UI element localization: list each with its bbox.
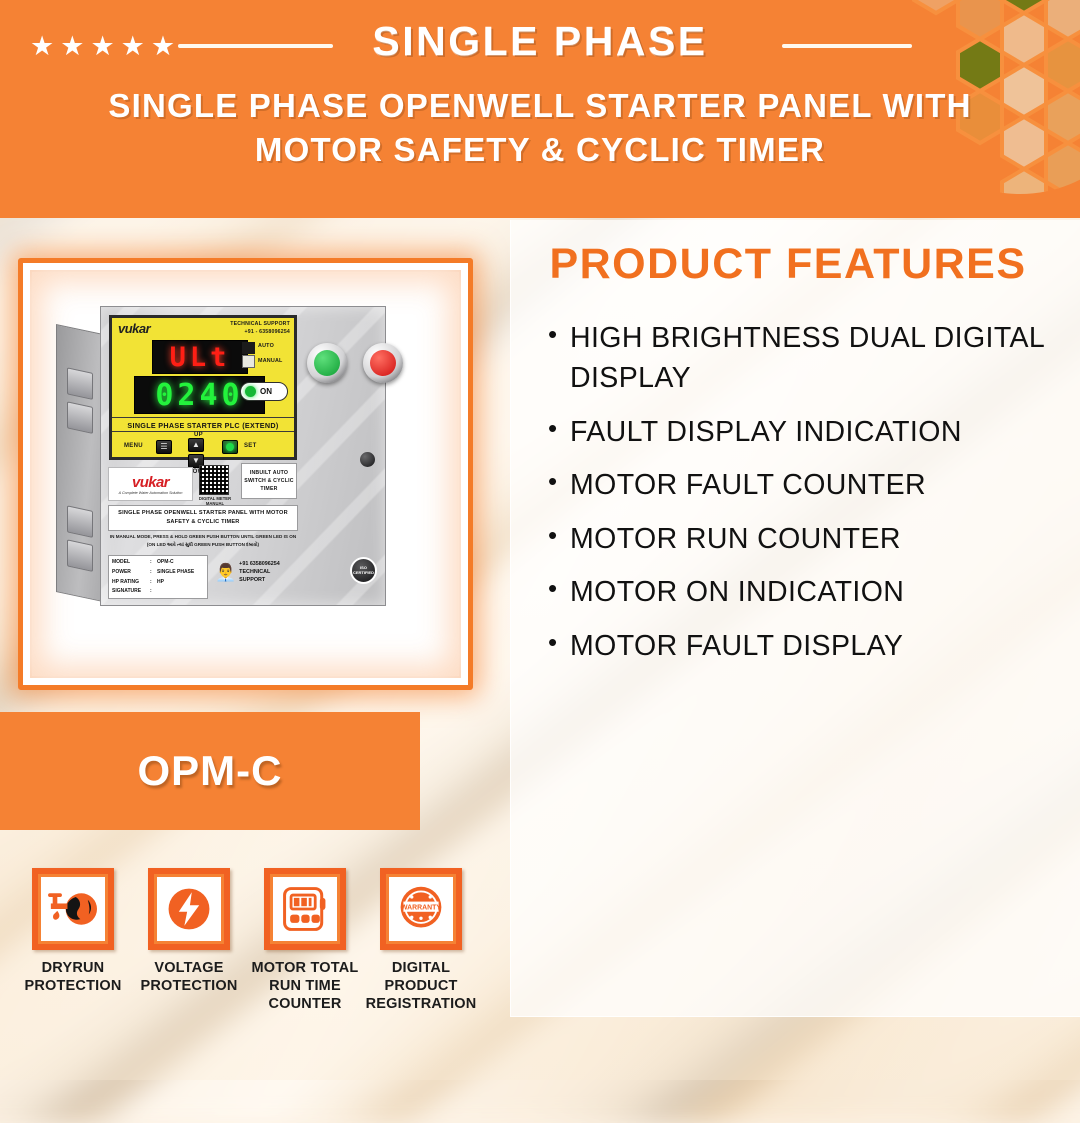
feature-item: FAULT DISPLAY INDICATION [548, 412, 1068, 452]
spec-key: MODEL [112, 558, 148, 568]
feature-item: MOTOR ON INDICATION [548, 572, 1068, 612]
set-button[interactable] [222, 440, 238, 454]
spec-row: HP RATING:HP [112, 578, 204, 588]
start-push-button[interactable] [307, 343, 347, 383]
product-image-frame: vukar TECHNICAL SUPPORT +91 - 6358096254… [18, 258, 473, 690]
badge-runtime-counter: MOTOR TOTAL RUN TIME COUNTER [250, 868, 360, 1048]
auto-switch-indicator [242, 342, 255, 354]
spec-key: HP RATING [112, 578, 148, 588]
plc-support-line2: +91 - 6358096254 [230, 329, 290, 337]
support-contact-text: +91 6358096254 TECHNICAL SUPPORT [239, 560, 293, 584]
specification-sticker: MODEL:OPM-C POWER:SINGLE PHASE HP RATING… [108, 555, 208, 599]
badge-caption: DRYRUN PROTECTION [18, 959, 128, 995]
certification-seal-icon: ISO CERTIFIED [350, 557, 377, 584]
support-label: TECHNICAL SUPPORT [239, 569, 270, 583]
badge-frame [148, 868, 230, 950]
badge-product-registration: WARRANTY DIGITAL PRODUCT REGISTRATION [366, 868, 476, 1048]
brand-sticker: vukar A Complete Water Automation Soluti… [108, 467, 193, 501]
menu-button[interactable]: ☰ [156, 440, 172, 454]
feature-item: MOTOR RUN COUNTER [548, 519, 1068, 559]
feature-badges-row: DRYRUN PROTECTION VOLTAGE PROTECTION [18, 868, 498, 1048]
plc-keypad: MENU ☰ UP ▲ ▼ DOWN SET [112, 434, 294, 463]
support-agent-icon: 👨‍💼 [215, 564, 236, 581]
plc-faceplate: vukar TECHNICAL SUPPORT +91 - 6358096254… [109, 315, 297, 460]
fault-code-display: ULt [152, 340, 248, 374]
badge-caption: VOLTAGE PROTECTION [134, 959, 244, 995]
up-button[interactable]: ▲ [188, 438, 204, 452]
door-latch-knob[interactable] [360, 452, 375, 467]
header-banner: ★ ★ ★ ★ ★ SINGLE PHASE SINGLE PHASE OPEN… [0, 0, 1080, 218]
feature-item: MOTOR FAULT COUNTER [548, 465, 1068, 505]
spec-value: HP [157, 578, 164, 588]
svg-text:WARRANTY: WARRANTY [401, 904, 441, 911]
spec-row: SIGNATURE: [112, 587, 204, 597]
badge-frame [32, 868, 114, 950]
tap-globe-icon [38, 874, 108, 944]
on-led-icon [245, 386, 256, 397]
badge-frame: WARRANTY [380, 868, 462, 950]
auto-manual-selector[interactable]: AUTO MANUAL [242, 342, 286, 372]
spec-value: SINGLE PHASE [157, 568, 194, 578]
model-name-band: OPM-C [0, 712, 420, 830]
hinge-icon [67, 539, 93, 572]
inbuilt-feature-sticker: INBUILT AUTO SWITCH & CYCLIC TIMER [241, 463, 297, 499]
support-contact-badge: 👨‍💼 +91 6358096254 TECHNICAL SUPPORT [215, 559, 293, 585]
spec-row: MODEL:OPM-C [112, 558, 204, 568]
on-label: ON [260, 387, 272, 396]
digital-meter-icon [270, 874, 340, 944]
brand-tagline: A Complete Water Automation Solution [119, 491, 183, 495]
badge-dryrun-protection: DRYRUN PROTECTION [18, 868, 128, 1048]
menu-key-label: MENU [124, 443, 143, 449]
features-list: HIGH BRIGHTNESS DUAL DIGITAL DISPLAY FAU… [548, 318, 1068, 679]
enclosure-front-face: vukar TECHNICAL SUPPORT +91 - 6358096254… [100, 306, 386, 606]
product-image: vukar TECHNICAL SUPPORT +91 - 6358096254… [32, 272, 459, 676]
red-lamp-icon [370, 350, 396, 376]
manual-label: MANUAL [258, 358, 283, 364]
feature-item: MOTOR FAULT DISPLAY [548, 626, 1068, 666]
warranty-seal-icon: WARRANTY [386, 874, 456, 944]
manual-switch-indicator [242, 355, 255, 368]
spec-row: POWER:SINGLE PHASE [112, 568, 204, 578]
product-title-sticker: SINGLE PHASE OPENWELL STARTER PANEL WITH… [108, 505, 298, 531]
control-panel-enclosure: vukar TECHNICAL SUPPORT +91 - 6358096254… [56, 306, 386, 606]
model-name: OPM-C [138, 747, 283, 795]
spec-key: SIGNATURE [112, 587, 148, 597]
plc-header-strip: vukar TECHNICAL SUPPORT +91 - 6358096254 [112, 318, 294, 340]
features-title: PRODUCT FEATURES [508, 240, 1068, 289]
auto-label: AUTO [258, 343, 274, 349]
stop-push-button[interactable] [363, 343, 403, 383]
brand-logo-text: vukar [132, 474, 169, 491]
plc-brand-logo: vukar [118, 321, 150, 336]
badge-frame [264, 868, 346, 950]
header-headline: SINGLE PHASE OPENWELL STARTER PANEL WITH… [52, 84, 1028, 171]
plc-title-strip: SINGLE PHASE STARTER PLC (EXTEND) [112, 417, 294, 432]
hinge-icon [67, 401, 93, 434]
plc-support-info: TECHNICAL SUPPORT +91 - 6358096254 [230, 321, 290, 336]
green-lamp-icon [314, 350, 340, 376]
badge-caption: MOTOR TOTAL RUN TIME COUNTER [250, 959, 360, 1013]
qr-code-icon[interactable] [199, 465, 229, 495]
lightning-bolt-icon [154, 874, 224, 944]
hinge-icon [67, 367, 93, 400]
motor-on-indicator: ON [240, 382, 288, 401]
spec-value: OPM-C [157, 558, 174, 568]
hinge-icon [67, 505, 93, 538]
feature-item: HIGH BRIGHTNESS DUAL DIGITAL DISPLAY [548, 318, 1068, 399]
badge-voltage-protection: VOLTAGE PROTECTION [134, 868, 244, 1048]
set-key-label: SET [244, 443, 257, 449]
support-phone: +91 6358096254 [239, 561, 280, 567]
instruction-note: IN MANUAL MODE, PRESS & HOLD GREEN PUSH … [108, 533, 298, 553]
spec-key: POWER [112, 568, 148, 578]
badge-caption: DIGITAL PRODUCT REGISTRATION [366, 959, 477, 1013]
plc-support-line1: TECHNICAL SUPPORT [230, 321, 290, 329]
header-kicker: SINGLE PHASE [0, 18, 1080, 65]
